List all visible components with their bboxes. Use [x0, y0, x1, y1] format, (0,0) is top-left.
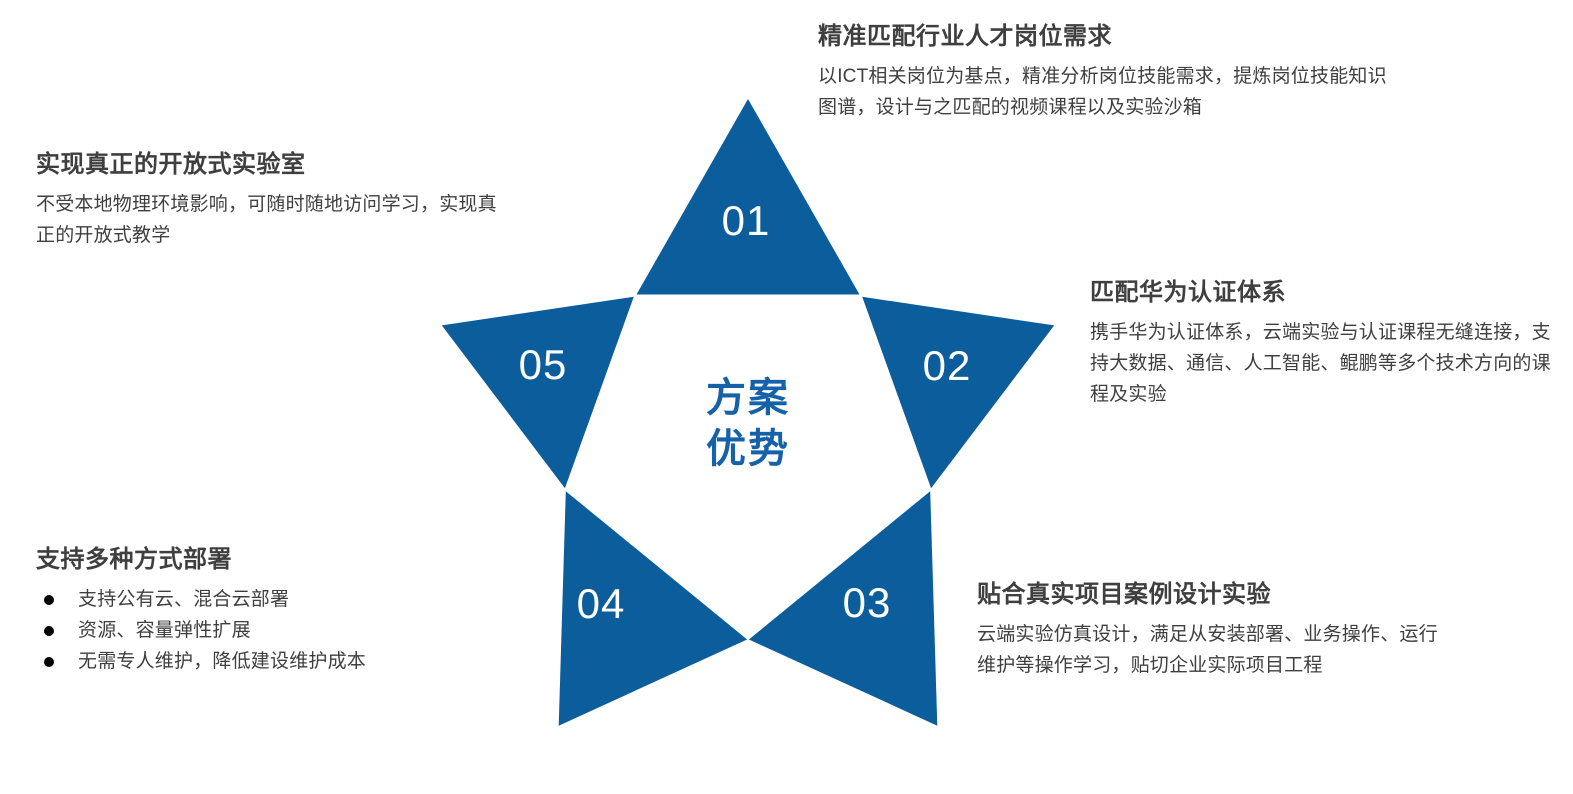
star-point-02[interactable]: [862, 297, 1054, 488]
advantage-block-02: 匹配华为认证体系 携手华为认证体系，云端实验与认证课程无缝连接，支持大数据、通信…: [1090, 278, 1560, 410]
advantage-block-04: 支持多种方式部署 支持公有云、混合云部署 资源、容量弹性扩展 无需专人维护，降低…: [36, 545, 506, 677]
advantage-heading-03: 贴合真实项目案例设计实验: [977, 580, 1447, 610]
list-item-label: 支持公有云、混合云部署: [78, 589, 289, 610]
center-label-line2: 优势: [706, 424, 790, 475]
star-number-03: 03: [843, 582, 892, 624]
center-label: 方案 优势: [706, 373, 790, 475]
star-number-05: 05: [519, 344, 568, 386]
list-item-label: 无需专人维护，降低建设维护成本: [78, 651, 366, 672]
star-number-01: 01: [722, 200, 771, 242]
star-number-04: 04: [577, 583, 626, 625]
advantage-body-01: 以ICT相关岗位为基点，精准分析岗位技能需求，提炼岗位技能知识图谱，设计与之匹配…: [818, 62, 1398, 124]
advantage-block-03: 贴合真实项目案例设计实验 云端实验仿真设计，满足从安装部署、业务操作、运行维护等…: [977, 580, 1447, 682]
list-item-label: 资源、容量弹性扩展: [78, 620, 251, 641]
list-item: 资源、容量弹性扩展: [36, 616, 506, 647]
advantage-block-01: 精准匹配行业人才岗位需求 以ICT相关岗位为基点，精准分析岗位技能需求，提炼岗位…: [818, 22, 1398, 124]
slide-canvas: 01 02 03 04 05 方案 优势 精准匹配行业人才岗位需求 以ICT相关…: [0, 0, 1573, 794]
center-label-line1: 方案: [706, 373, 790, 424]
bullet-icon: [44, 595, 54, 605]
advantage-heading-04: 支持多种方式部署: [36, 545, 506, 575]
advantage-heading-05: 实现真正的开放式实验室: [36, 150, 506, 180]
bullet-icon: [44, 657, 54, 667]
advantage-bullet-list-04: 支持公有云、混合云部署 资源、容量弹性扩展 无需专人维护，降低建设维护成本: [36, 585, 506, 677]
star-number-02: 02: [923, 345, 972, 387]
advantage-heading-02: 匹配华为认证体系: [1090, 278, 1560, 308]
star-point-05[interactable]: [442, 297, 634, 488]
advantage-block-05: 实现真正的开放式实验室 不受本地物理环境影响，可随时随地访问学习，实现真正的开放…: [36, 150, 506, 252]
advantage-body-05: 不受本地物理环境影响，可随时随地访问学习，实现真正的开放式教学: [36, 190, 506, 252]
list-item: 无需专人维护，降低建设维护成本: [36, 647, 506, 678]
advantage-body-03: 云端实验仿真设计，满足从安装部署、业务操作、运行维护等操作学习，贴切企业实际项目…: [977, 620, 1447, 682]
advantage-heading-01: 精准匹配行业人才岗位需求: [818, 22, 1398, 52]
list-item: 支持公有云、混合云部署: [36, 585, 506, 616]
advantage-body-02: 携手华为认证体系，云端实验与认证课程无缝连接，支持大数据、通信、人工智能、鲲鹏等…: [1090, 318, 1560, 410]
bullet-icon: [44, 626, 54, 636]
